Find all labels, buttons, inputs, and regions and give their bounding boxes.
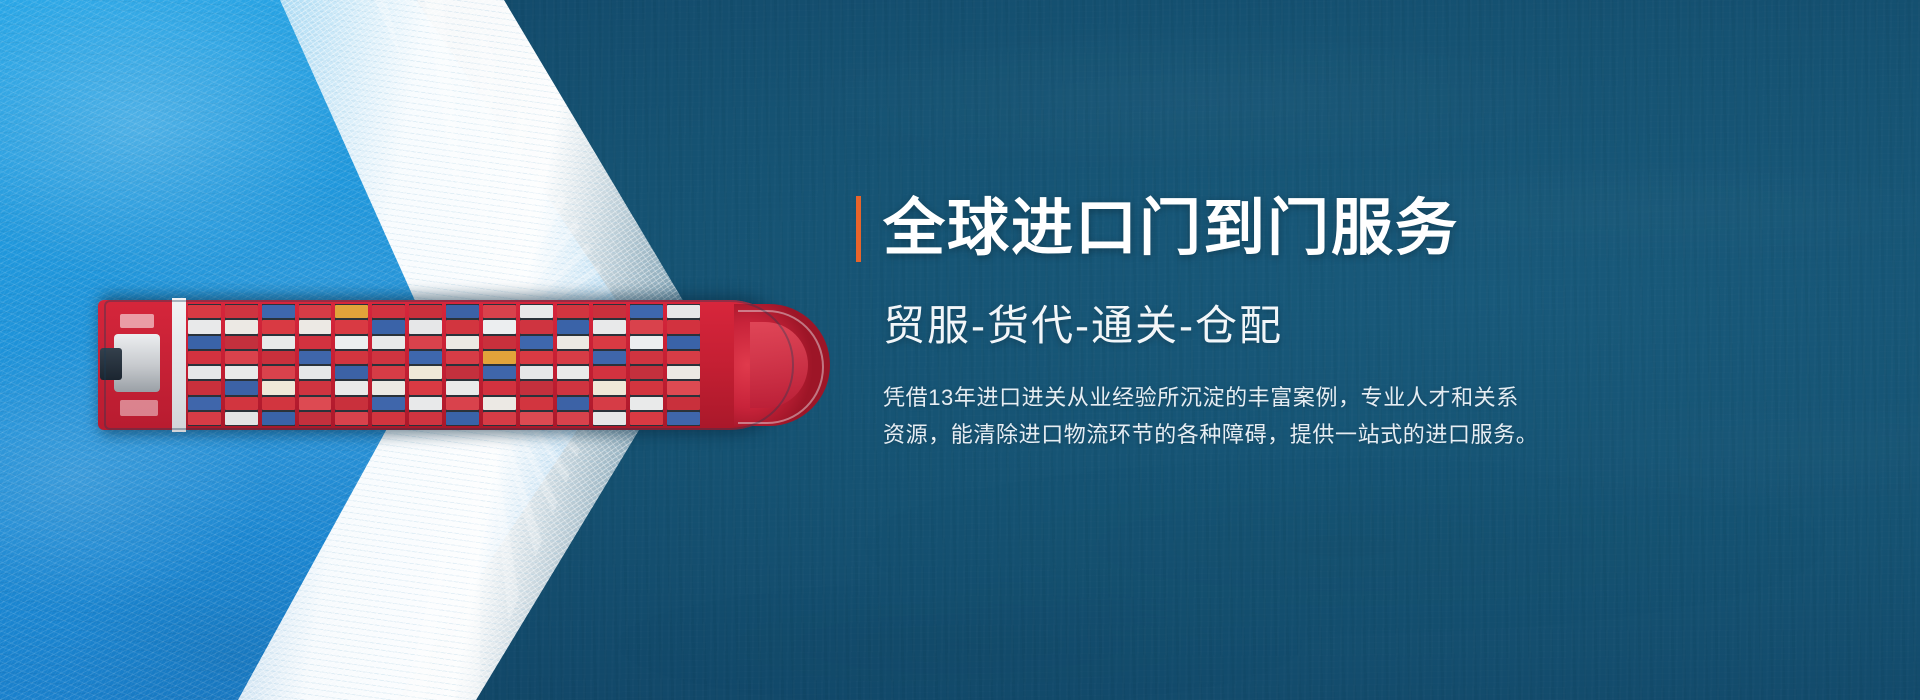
shipping-container bbox=[557, 351, 590, 364]
container-bay bbox=[446, 304, 479, 426]
shipping-container bbox=[446, 412, 479, 425]
banner-copy-block: 全球进口门到门服务 贸服-货代-通关-仓配 凭借13年进口进关从业经验所沉淀的丰… bbox=[856, 196, 1816, 454]
shipping-container bbox=[593, 305, 626, 318]
shipping-container bbox=[667, 305, 700, 318]
headline-row: 全球进口门到门服务 bbox=[856, 196, 1816, 262]
container-cargo-stacks bbox=[188, 304, 700, 426]
shipping-container bbox=[593, 366, 626, 379]
page-title: 全球进口门到门服务 bbox=[883, 196, 1459, 262]
shipping-container bbox=[667, 320, 700, 333]
shipping-container bbox=[372, 351, 405, 364]
shipping-container bbox=[520, 320, 553, 333]
shipping-container bbox=[335, 320, 368, 333]
shipping-container bbox=[520, 381, 553, 394]
shipping-container bbox=[188, 305, 221, 318]
shipping-container bbox=[188, 397, 221, 410]
shipping-container bbox=[188, 366, 221, 379]
shipping-container bbox=[299, 381, 332, 394]
shipping-container bbox=[262, 397, 295, 410]
shipping-container bbox=[225, 381, 258, 394]
shipping-container bbox=[188, 412, 221, 425]
shipping-container bbox=[409, 320, 442, 333]
banner-subheadline: 贸服-货代-通关-仓配 bbox=[883, 302, 1816, 350]
shipping-container bbox=[409, 305, 442, 318]
shipping-container bbox=[557, 397, 590, 410]
shipping-container bbox=[520, 397, 553, 410]
ship-funnel bbox=[100, 348, 122, 380]
shipping-container bbox=[372, 412, 405, 425]
shipping-container bbox=[667, 397, 700, 410]
shipping-container bbox=[409, 336, 442, 349]
shipping-container bbox=[557, 381, 590, 394]
shipping-container bbox=[335, 305, 368, 318]
shipping-container bbox=[483, 366, 516, 379]
shipping-container bbox=[372, 397, 405, 410]
banner-description: 凭借13年进口进关从业经验所沉淀的丰富案例，专业人才和关系 资源，能清除进口物流… bbox=[883, 380, 1763, 454]
shipping-container bbox=[593, 351, 626, 364]
shipping-container bbox=[593, 336, 626, 349]
shipping-container bbox=[483, 397, 516, 410]
shipping-container bbox=[262, 305, 295, 318]
container-bay bbox=[409, 304, 442, 426]
shipping-container bbox=[630, 320, 663, 333]
shipping-container bbox=[446, 351, 479, 364]
shipping-container bbox=[630, 336, 663, 349]
shipping-container bbox=[262, 381, 295, 394]
shipping-container bbox=[483, 305, 516, 318]
shipping-container bbox=[630, 351, 663, 364]
shipping-container bbox=[299, 397, 332, 410]
description-line-1: 凭借13年进口进关从业经验所沉淀的丰富案例，专业人才和关系 bbox=[883, 380, 1763, 417]
container-bay bbox=[593, 304, 626, 426]
container-bay bbox=[299, 304, 332, 426]
hero-banner: 全球进口门到门服务 贸服-货代-通关-仓配 凭借13年进口进关从业经验所沉淀的丰… bbox=[0, 0, 1920, 700]
shipping-container bbox=[667, 336, 700, 349]
shipping-container bbox=[446, 336, 479, 349]
shipping-container bbox=[667, 351, 700, 364]
shipping-container bbox=[630, 397, 663, 410]
shipping-container bbox=[630, 412, 663, 425]
shipping-container bbox=[483, 320, 516, 333]
shipping-container bbox=[446, 366, 479, 379]
shipping-container bbox=[593, 397, 626, 410]
shipping-container bbox=[335, 397, 368, 410]
container-bay bbox=[667, 304, 700, 426]
shipping-container bbox=[225, 351, 258, 364]
shipping-container bbox=[188, 381, 221, 394]
shipping-container bbox=[262, 412, 295, 425]
shipping-container bbox=[557, 305, 590, 318]
shipping-container bbox=[225, 412, 258, 425]
shipping-container bbox=[299, 320, 332, 333]
shipping-container bbox=[593, 320, 626, 333]
shipping-container bbox=[188, 336, 221, 349]
shipping-container bbox=[299, 336, 332, 349]
container-bay bbox=[335, 304, 368, 426]
shipping-container bbox=[520, 336, 553, 349]
shipping-container bbox=[557, 320, 590, 333]
shipping-container bbox=[557, 412, 590, 425]
shipping-container bbox=[483, 351, 516, 364]
shipping-container bbox=[225, 320, 258, 333]
shipping-container bbox=[335, 412, 368, 425]
shipping-container bbox=[520, 351, 553, 364]
shipping-container bbox=[409, 412, 442, 425]
shipping-container bbox=[593, 381, 626, 394]
container-bay bbox=[225, 304, 258, 426]
ship-gangway bbox=[172, 298, 186, 432]
container-ship bbox=[104, 300, 794, 430]
container-bay bbox=[630, 304, 663, 426]
shipping-container bbox=[299, 305, 332, 318]
shipping-container bbox=[225, 397, 258, 410]
shipping-container bbox=[630, 305, 663, 318]
shipping-container bbox=[667, 381, 700, 394]
shipping-container bbox=[372, 305, 405, 318]
shipping-container bbox=[335, 366, 368, 379]
orange-accent-bar bbox=[856, 196, 861, 262]
shipping-container bbox=[262, 351, 295, 364]
shipping-container bbox=[225, 366, 258, 379]
shipping-container bbox=[630, 366, 663, 379]
shipping-container bbox=[299, 412, 332, 425]
shipping-container bbox=[446, 397, 479, 410]
shipping-container bbox=[299, 351, 332, 364]
shipping-container bbox=[225, 336, 258, 349]
shipping-container bbox=[335, 381, 368, 394]
shipping-container bbox=[557, 336, 590, 349]
shipping-container bbox=[262, 366, 295, 379]
container-bay bbox=[520, 304, 553, 426]
shipping-container bbox=[446, 305, 479, 318]
shipping-container bbox=[667, 412, 700, 425]
shipping-container bbox=[483, 412, 516, 425]
shipping-container bbox=[593, 412, 626, 425]
shipping-container bbox=[557, 366, 590, 379]
shipping-container bbox=[372, 366, 405, 379]
shipping-container bbox=[409, 366, 442, 379]
shipping-container bbox=[225, 305, 258, 318]
shipping-container bbox=[446, 381, 479, 394]
shipping-container bbox=[520, 305, 553, 318]
shipping-container bbox=[262, 336, 295, 349]
shipping-container bbox=[520, 366, 553, 379]
container-bay bbox=[557, 304, 590, 426]
container-bay bbox=[188, 304, 221, 426]
shipping-container bbox=[409, 381, 442, 394]
shipping-container bbox=[372, 336, 405, 349]
shipping-container bbox=[188, 351, 221, 364]
shipping-container bbox=[446, 320, 479, 333]
container-bay bbox=[372, 304, 405, 426]
shipping-container bbox=[409, 397, 442, 410]
shipping-container bbox=[520, 412, 553, 425]
container-bay bbox=[483, 304, 516, 426]
shipping-container bbox=[299, 366, 332, 379]
shipping-container bbox=[335, 351, 368, 364]
shipping-container bbox=[483, 336, 516, 349]
shipping-container bbox=[372, 381, 405, 394]
description-line-2: 资源，能清除进口物流环节的各种障碍，提供一站式的进口服务。 bbox=[883, 417, 1763, 454]
shipping-container bbox=[483, 381, 516, 394]
container-bay bbox=[262, 304, 295, 426]
shipping-container bbox=[262, 320, 295, 333]
shipping-container bbox=[667, 366, 700, 379]
shipping-container bbox=[188, 320, 221, 333]
ship-stern-marking-bottom bbox=[120, 400, 158, 416]
ship-stern-marking-top bbox=[120, 314, 154, 328]
shipping-container bbox=[630, 381, 663, 394]
shipping-container bbox=[372, 320, 405, 333]
shipping-container bbox=[335, 336, 368, 349]
shipping-container bbox=[409, 351, 442, 364]
